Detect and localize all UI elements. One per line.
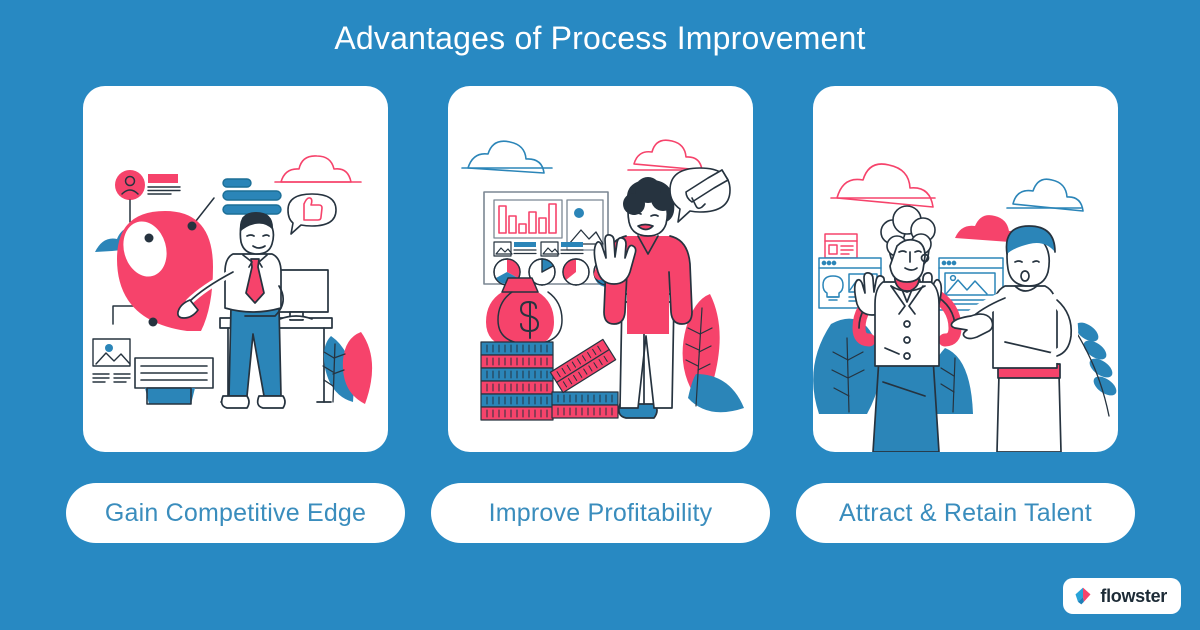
money-bag-dollar-icon <box>486 278 562 348</box>
labels-row: Gain Competitive Edge Improve Profitabil… <box>66 483 1135 543</box>
two-people-with-floating-windows-illustration <box>813 86 1118 452</box>
leaning-cash-bundle <box>550 339 615 392</box>
blue-cloud-outline <box>1007 179 1083 211</box>
giant-pink-lightbulb <box>117 211 213 331</box>
pink-cloud-outline <box>275 156 361 182</box>
pink-text-card <box>148 174 178 183</box>
pink-cloud-outline <box>628 140 704 170</box>
label-pill-competitive-edge[interactable]: Gain Competitive Edge <box>66 483 405 543</box>
blue-text-bars <box>223 179 281 214</box>
label-pill-profitability[interactable]: Improve Profitability <box>431 483 770 543</box>
cash-stack-main <box>481 342 553 420</box>
pie-3 <box>563 259 589 285</box>
pink-window-icon <box>825 234 857 258</box>
leaf-plant <box>323 332 372 404</box>
illustration-card-profitability[interactable] <box>448 86 753 452</box>
page-title: Advantages of Process Improvement <box>0 18 1200 58</box>
label-text: Improve Profitability <box>489 499 713 528</box>
flowster-logo-text: flowster <box>1100 586 1167 607</box>
label-text: Attract & Retain Talent <box>839 499 1092 528</box>
blue-cloud-outline <box>462 141 552 173</box>
text-lines-card <box>148 187 180 194</box>
stacked-cash-bundles <box>481 339 618 420</box>
illustration-card-talent[interactable] <box>813 86 1118 452</box>
man-at-desk-with-lightbulb-illustration <box>83 86 388 452</box>
woman-waving <box>594 177 692 418</box>
label-text: Gain Competitive Edge <box>105 499 366 528</box>
illustration-cards-row <box>83 86 1118 452</box>
pink-cloud-outline <box>831 164 935 207</box>
illustration-card-competitive-edge[interactable] <box>83 86 388 452</box>
megaphone-speech-bubble <box>670 168 730 222</box>
label-pill-talent[interactable]: Attract & Retain Talent <box>796 483 1135 543</box>
woman-in-vest <box>855 206 955 452</box>
lightbulb-base <box>135 358 213 404</box>
image-thumbnail-card <box>93 339 130 382</box>
infographic-canvas: Advantages of Process Improvement <box>0 0 1200 630</box>
cash-stack-right <box>552 392 618 418</box>
flowster-logo[interactable]: flowster <box>1063 578 1181 614</box>
thumbs-up-speech-bubble <box>288 194 336 234</box>
flowster-arrow-mark <box>1073 586 1093 606</box>
woman-presenting-dashboard-with-money-illustration <box>448 86 753 452</box>
avatar-badge-icon <box>115 170 145 200</box>
